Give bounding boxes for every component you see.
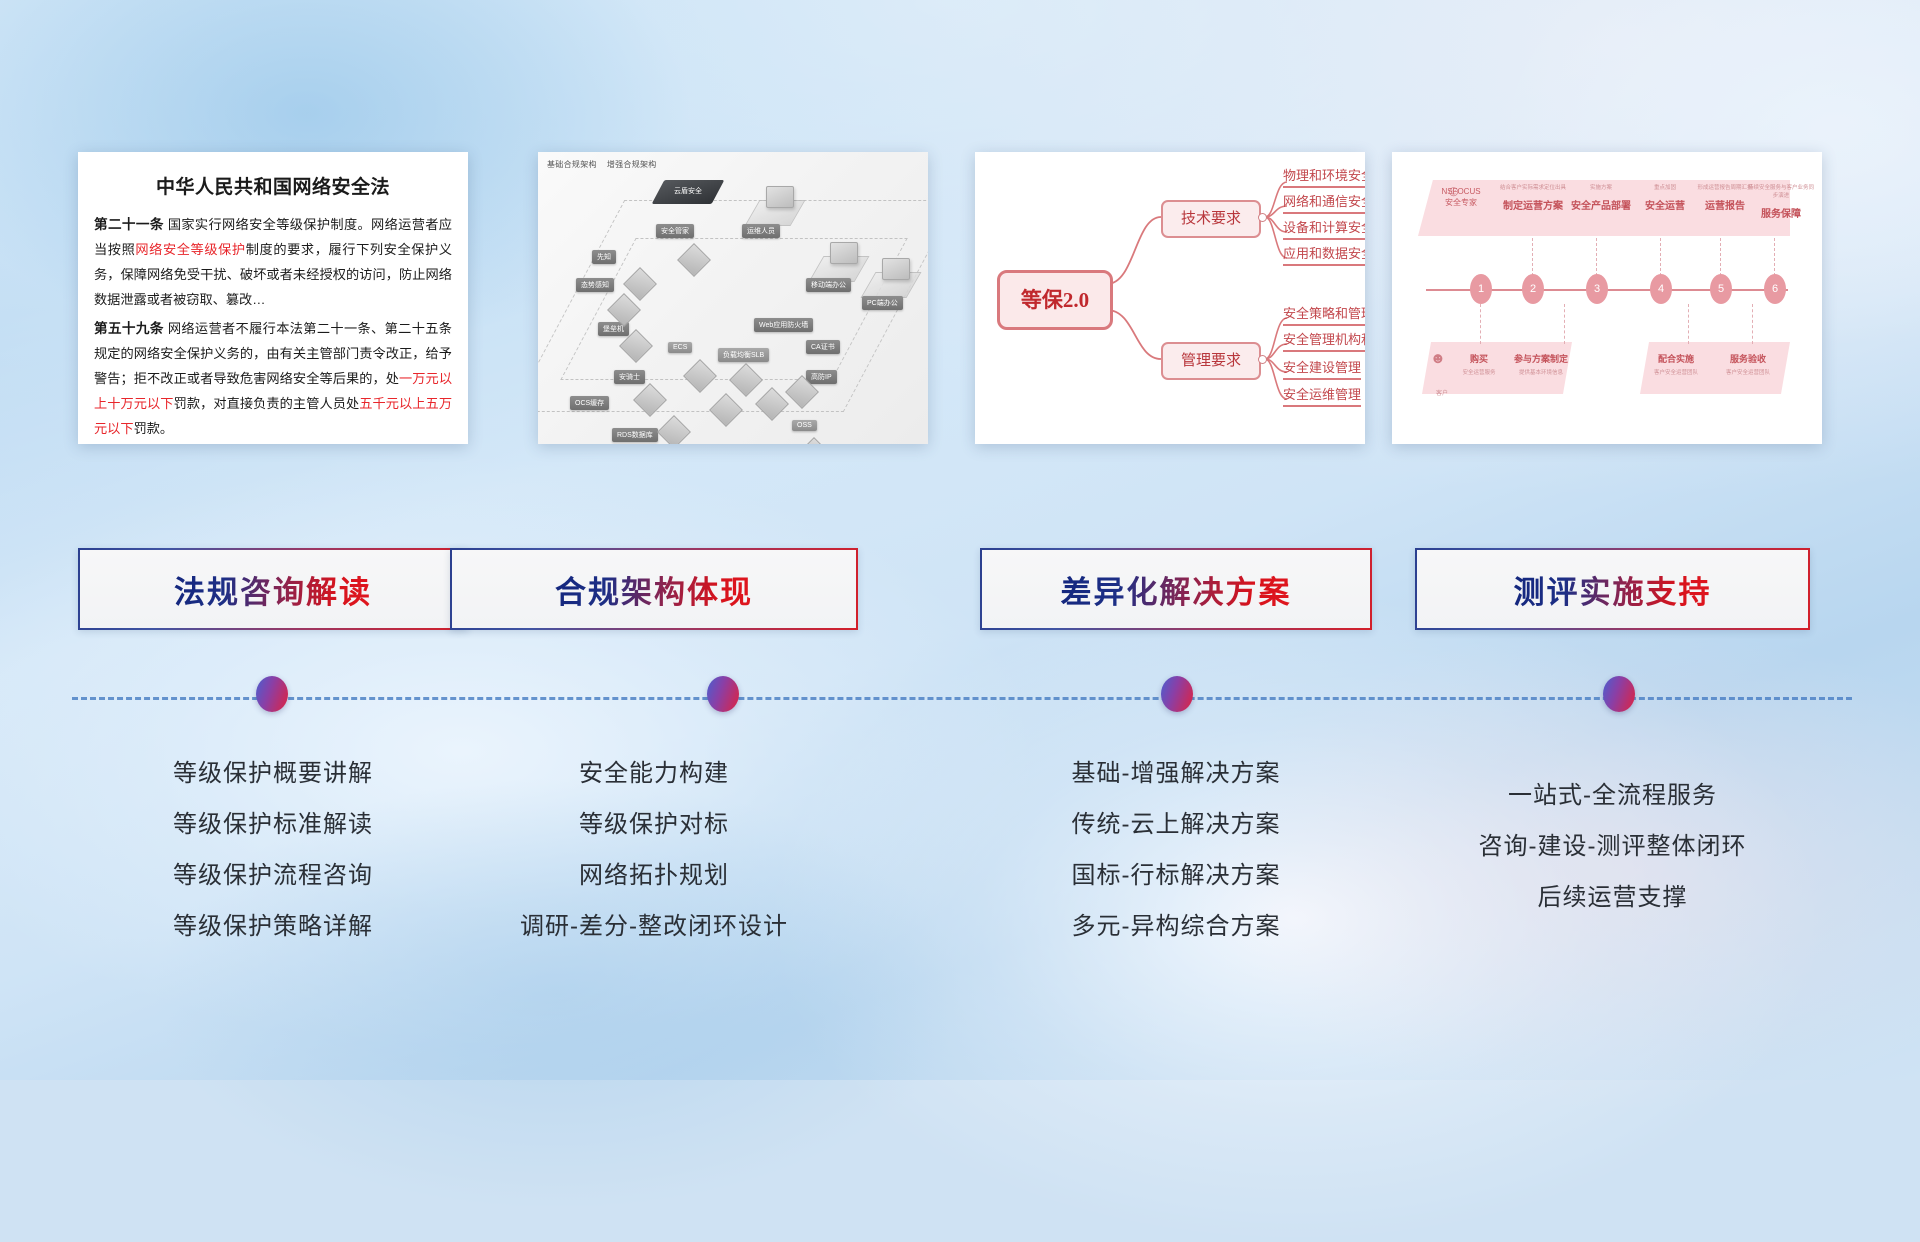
section-header-evaluation-support[interactable]: 测评实施支持 <box>1415 548 1810 630</box>
arch-node-prophet: 先知 <box>592 250 616 264</box>
nsf-bottom-item-4: 服务验收客户安全运营团队 <box>1722 352 1774 376</box>
mindmap-root: 等保2.0 <box>997 270 1113 330</box>
column-legal-consultation: 等级保护概要讲解 等级保护标准解读 等级保护流程咨询 等级保护策略详解 <box>78 748 468 952</box>
nsf-step-1: 1 <box>1470 274 1492 304</box>
timeline-dashed-line <box>72 697 1852 700</box>
nsf-bottom-item-2: 参与方案制定提供基本环境信息 <box>1510 352 1572 376</box>
list-item: 调研-差分-整改闭环设计 <box>450 901 858 952</box>
arch-node-security-butler: 安全管家 <box>656 224 694 238</box>
list-item: 网络拓扑规划 <box>450 850 858 901</box>
nsf-step-3: 3 <box>1586 274 1608 304</box>
card-compliance-architecture: 基础合规架构增强合规架构 云盾安全 运维人员 移动端办公 PC端办公 安全管家 … <box>538 152 928 444</box>
timeline-marker-1[interactable] <box>256 676 288 712</box>
list-item: 咨询-建设-测评整体闭环 <box>1415 821 1810 872</box>
law-article-59: 第五十九条 网络运营者不履行本法第二十一条、第二十五条规定的网络安全保护义务的，… <box>94 316 452 441</box>
nsf-top-item-1: 结合客户实际需求定位出具制定运营方案 <box>1500 184 1566 212</box>
list-item: 基础-增强解决方案 <box>980 748 1372 799</box>
nsf-top-item-3: 重点加固安全运营 <box>1632 184 1698 212</box>
section-headers-row: 法规咨询解读 合规架构体现 差异化解决方案 测评实施支持 <box>0 548 1920 638</box>
nsf-bottom-item-3: 配合实施客户安全运营团队 <box>1650 352 1702 376</box>
section-header-compliance-architecture[interactable]: 合规架构体现 <box>450 548 858 630</box>
timeline-marker-4[interactable] <box>1603 676 1635 712</box>
list-item: 等级保护标准解读 <box>78 799 468 850</box>
mindmap-leaf-mgmt-1: 安全策略和管理制度 <box>1283 303 1365 326</box>
arch-node-ecs: ECS <box>668 342 692 353</box>
screenshot-cards-row: 中华人民共和国网络安全法 第二十一条 国家实行网络安全等级保护制度。网络运营者应… <box>0 152 1920 452</box>
arch-node-anti-ddos: 高防IP <box>806 370 837 384</box>
nsf-step-4: 4 <box>1650 274 1672 304</box>
arch-node-rds: RDS数据库 <box>612 428 658 442</box>
list-item: 等级保护对标 <box>450 799 858 850</box>
section-header-label: 法规咨询解读 <box>174 567 372 612</box>
mindmap-branch-technical: 技术要求 <box>1161 200 1261 238</box>
section-header-label: 合规架构体现 <box>555 567 753 612</box>
arch-node-waf: Web应用防火墙 <box>754 318 813 332</box>
nsfocus-timeline-diagram: ☺ NSFOCUS 安全专家 结合客户实际需求定位出具制定运营方案 实施方案安全… <box>1392 152 1822 444</box>
mindmap-leaf-tech-2: 网络和通信安全 <box>1283 191 1365 214</box>
list-item: 国标-行标解决方案 <box>980 850 1372 901</box>
architecture-diagram: 基础合规架构增强合规架构 云盾安全 运维人员 移动端办公 PC端办公 安全管家 … <box>538 152 928 444</box>
list-item: 传统-云上解决方案 <box>980 799 1372 850</box>
nsfocus-brand-name: NSFOCUS <box>1441 187 1480 196</box>
arch-node-oss: OSS <box>792 420 817 431</box>
arch-node-anqishi: 安骑士 <box>614 370 645 384</box>
nsf-top-item-2: 实施方案安全产品部署 <box>1568 184 1634 212</box>
article-59-text-c: 罚款。 <box>134 421 174 436</box>
article-21-label: 第二十一条 <box>94 217 164 232</box>
nsf-step-5: 5 <box>1710 274 1732 304</box>
list-item: 等级保护流程咨询 <box>78 850 468 901</box>
list-item: 安全能力构建 <box>450 748 858 799</box>
arch-node-mobile-office: 移动端办公 <box>806 278 851 292</box>
arch-node-situation-awareness: 态势感知 <box>576 278 614 292</box>
timeline-marker-3[interactable] <box>1161 676 1193 712</box>
mindmap-collapse-dot-technical[interactable] <box>1258 213 1267 222</box>
mindmap-collapse-dot-management[interactable] <box>1258 355 1267 364</box>
arch-node-ops-staff: 运维人员 <box>742 224 780 238</box>
nsf-bottom-item-1: 购买安全运营服务 <box>1458 352 1500 376</box>
mindmap-branch-management: 管理要求 <box>1161 342 1261 380</box>
mindmap-diagram: 等保2.0 技术要求 管理要求 物理和环境安全 网络和通信安全 设备和计算安全 … <box>975 152 1365 444</box>
arch-node-ca-cert: CA证书 <box>806 340 840 354</box>
nsf-top-item-5: 持续安全服务与客户业务同步演进服务保障 <box>1748 184 1814 220</box>
list-item: 一站式-全流程服务 <box>1415 770 1810 821</box>
list-item: 等级保护策略详解 <box>78 901 468 952</box>
arch-node-slb: 负载均衡SLB <box>718 348 769 362</box>
article-59-label: 第五十九条 <box>94 321 164 336</box>
section-header-legal-consultation[interactable]: 法规咨询解读 <box>78 548 468 630</box>
mindmap-leaf-mgmt-2: 安全管理机构和人员 <box>1283 329 1365 352</box>
card-nsfocus-service-timeline: ☺ NSFOCUS 安全专家 结合客户实际需求定位出具制定运营方案 实施方案安全… <box>1392 152 1822 444</box>
card-cybersecurity-law: 中华人民共和国网络安全法 第二十一条 国家实行网络安全等级保护制度。网络运营者应… <box>78 152 468 444</box>
article-21-highlight: 网络安全等级保护 <box>135 242 245 257</box>
section-header-label: 测评实施支持 <box>1514 567 1712 612</box>
mindmap-leaf-tech-1: 物理和环境安全 <box>1283 165 1365 188</box>
arch-tab-enhanced: 增强合规架构 <box>607 160 657 169</box>
law-document: 中华人民共和国网络安全法 第二十一条 国家实行网络安全等级保护制度。网络运营者应… <box>78 152 468 444</box>
customer-icon: ☻ <box>1430 350 1446 367</box>
nsf-step-2: 2 <box>1522 274 1544 304</box>
section-header-differentiated-solution[interactable]: 差异化解决方案 <box>980 548 1372 630</box>
nsfocus-brand-sub: 安全专家 <box>1445 198 1477 207</box>
arch-node-pc-office: PC端办公 <box>862 296 903 310</box>
column-differentiated-solution: 基础-增强解决方案 传统-云上解决方案 国标-行标解决方案 多元-异构综合方案 <box>980 748 1372 952</box>
mindmap-leaf-mgmt-3: 安全建设管理 <box>1283 357 1361 380</box>
slide-stage: 中华人民共和国网络安全法 第二十一条 国家实行网络安全等级保护制度。网络运营者应… <box>0 0 1920 1080</box>
mindmap-leaf-tech-4: 应用和数据安全 <box>1283 243 1365 266</box>
law-title: 中华人民共和国网络安全法 <box>94 172 452 199</box>
mindmap-leaf-tech-3: 设备和计算安全 <box>1283 217 1365 240</box>
nsfocus-brand: NSFOCUS 安全专家 <box>1430 186 1492 208</box>
nsf-step-6: 6 <box>1764 274 1786 304</box>
list-item: 后续运营支撑 <box>1415 872 1810 923</box>
mindmap-leaf-mgmt-4: 安全运维管理 <box>1283 384 1361 407</box>
timeline-axis <box>0 690 1920 730</box>
architecture-tabs: 基础合规架构增强合规架构 <box>547 159 667 170</box>
column-compliance-architecture: 安全能力构建 等级保护对标 网络拓扑规划 调研-差分-整改闭环设计 <box>450 748 858 952</box>
timeline-marker-2[interactable] <box>707 676 739 712</box>
card-mindmap-dengbao: 等保2.0 技术要求 管理要求 物理和环境安全 网络和通信安全 设备和计算安全 … <box>975 152 1365 444</box>
arch-tab-basic: 基础合规架构 <box>547 160 597 169</box>
nsf-customer-label: 客户 <box>1422 388 1462 397</box>
column-evaluation-support: 一站式-全流程服务 咨询-建设-测评整体闭环 后续运营支撑 <box>1415 770 1810 923</box>
list-item: 等级保护概要讲解 <box>78 748 468 799</box>
arch-node-ocs: OCS缓存 <box>570 396 609 410</box>
article-59-text-b: 罚款，对直接负责的主管人员处 <box>174 396 360 411</box>
law-article-21: 第二十一条 国家实行网络安全等级保护制度。网络运营者应当按照网络安全等级保护制度… <box>94 212 452 312</box>
section-header-label: 差异化解决方案 <box>1061 567 1292 612</box>
list-item: 多元-异构综合方案 <box>980 901 1372 952</box>
arch-node-cloud-shield: 云盾安全 <box>652 180 725 204</box>
